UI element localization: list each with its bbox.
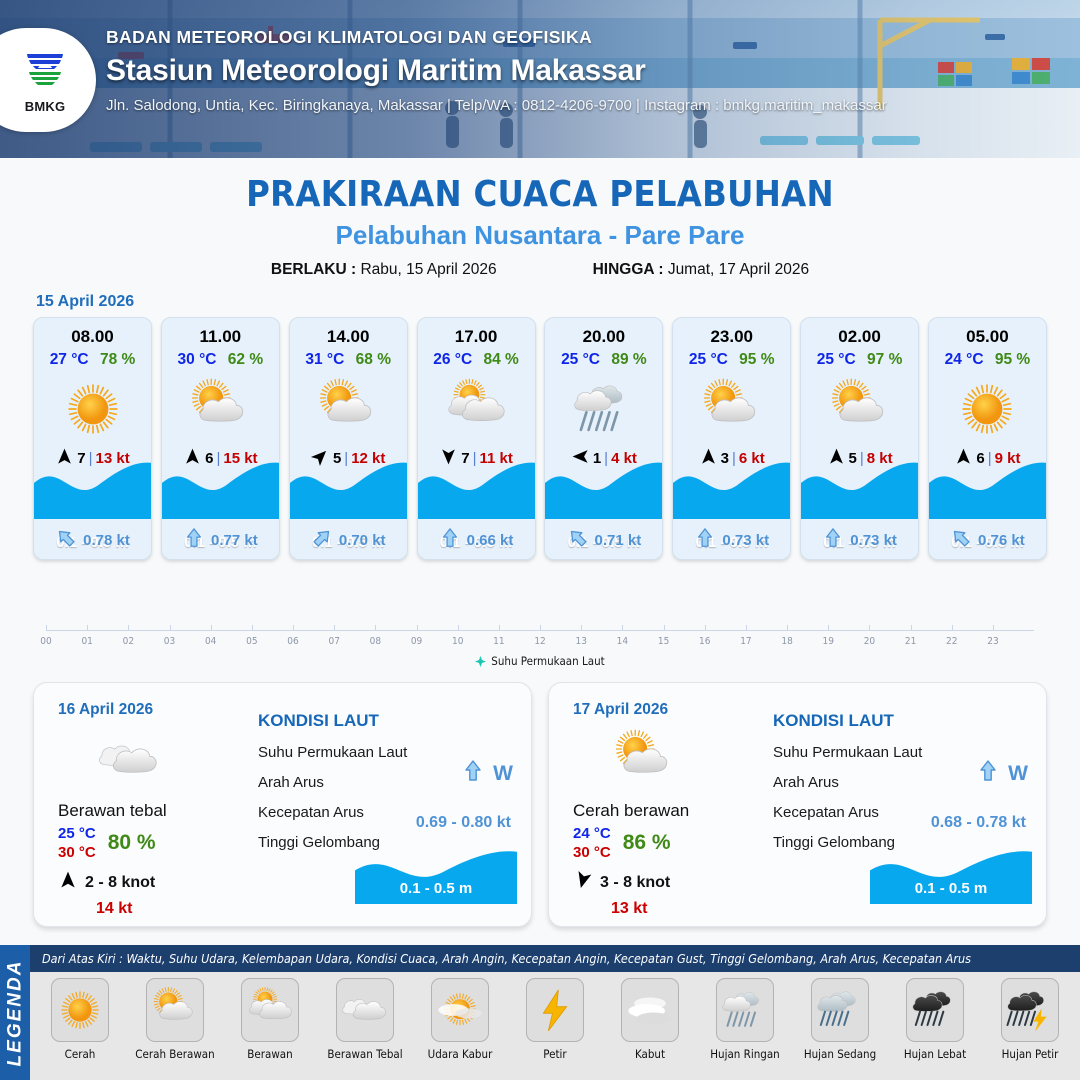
weather-cerah-berawan-icon xyxy=(699,372,765,446)
daily-wave-graphic: 0.1 - 0.5 m xyxy=(870,846,1032,904)
daily-wind: 3 - 8 knot xyxy=(573,870,773,895)
legend-item-label: Berawan Tebal xyxy=(327,1047,402,1061)
weather-cerah-icon xyxy=(954,372,1020,446)
card-temperature: 25 °C xyxy=(817,351,856,368)
card-current-speed: 0.78 kt xyxy=(83,532,130,549)
daily-temps: 25 °C 30 °C 80 % xyxy=(58,825,258,861)
card-humidity: 95 % xyxy=(995,351,1030,368)
chart-x-axis xyxy=(46,630,1034,631)
legend-item-label: Hujan Lebat xyxy=(904,1047,966,1061)
daily-forecast-panels: 16 April 2026 Berawan tebal 25 °C 30 °C … xyxy=(0,670,1080,927)
legend-item-label: Kabut xyxy=(635,1047,665,1061)
hourly-card: 02.00 25 °C 97 % 5 | 8 kt 0.1 - 0.5 m xyxy=(800,317,919,560)
legend-item: Udara Kabur xyxy=(418,978,502,1061)
daily-temp-max: 30 °C xyxy=(573,844,611,861)
chart-tick-label: 15 xyxy=(656,636,672,647)
current-direction-arrow-icon xyxy=(55,527,77,553)
daily-current-speed: 0.68 - 0.78 kt xyxy=(931,814,1026,832)
daily-panel: 16 April 2026 Berawan tebal 25 °C 30 °C … xyxy=(33,682,532,927)
card-humidity: 62 % xyxy=(228,351,263,368)
chart-tick-label: 14 xyxy=(614,636,630,647)
card-current-speed: 0.70 kt xyxy=(339,532,386,549)
card-temp-humidity: 25 °C 89 % xyxy=(561,351,647,369)
daily-wave-graphic: 0.1 - 0.5 m xyxy=(355,846,517,904)
legend-item: Berawan Tebal xyxy=(323,978,407,1061)
daily-humidity: 80 % xyxy=(108,831,156,855)
legend-section: LEGENDA Dari Atas Kiri : Waktu, Suhu Uda… xyxy=(0,945,1080,1080)
current-direction-arrow-icon xyxy=(461,759,485,788)
weather-berawan-icon xyxy=(443,372,509,446)
legend-item: Hujan Ringan xyxy=(703,978,787,1061)
current-direction-arrow-icon xyxy=(976,759,1000,788)
legend-item-label: Hujan Petir xyxy=(1002,1047,1059,1061)
card-current-speed: 0.77 kt xyxy=(211,532,258,549)
weather-cerah-berawan-icon xyxy=(827,372,893,446)
valid-from-value: Rabu, 15 April 2026 xyxy=(360,261,496,278)
chart-tick-label: 01 xyxy=(79,636,95,647)
card-current: 0.77 kt xyxy=(162,527,279,553)
card-current: 0.66 kt xyxy=(418,527,535,553)
card-temperature: 25 °C xyxy=(689,351,728,368)
card-temperature: 24 °C xyxy=(945,351,984,368)
legend-item: Hujan Sedang xyxy=(798,978,882,1061)
current-direction-arrow-icon xyxy=(439,527,461,553)
card-time: 02.00 xyxy=(838,327,881,347)
current-direction-arrow-icon xyxy=(183,527,205,553)
daily-gust: 13 kt xyxy=(611,900,773,918)
chart-tick-label: 22 xyxy=(944,636,960,647)
header-text-block: BADAN METEOROLOGI KLIMATOLOGI DAN GEOFIS… xyxy=(106,27,1066,114)
valid-to-value: Jumat, 17 April 2026 xyxy=(668,261,809,278)
chart-tick-label: 10 xyxy=(450,636,466,647)
daily-humidity: 86 % xyxy=(623,831,671,855)
card-wave-graphic xyxy=(673,457,790,519)
card-time: 08.00 xyxy=(71,327,114,347)
chart-tick-label: 06 xyxy=(285,636,301,647)
card-wave-graphic xyxy=(290,457,407,519)
legend-item: Berawan xyxy=(228,978,312,1061)
legend-item-label: Udara Kabur xyxy=(428,1047,493,1061)
card-current-speed: 0.66 kt xyxy=(467,532,514,549)
weather-hujan-ringan-icon xyxy=(571,372,637,446)
chart-tick-label: 12 xyxy=(532,636,548,647)
daily-wave-height: 0.1 - 0.5 m xyxy=(355,880,517,897)
weather-cerah-berawan-icon xyxy=(187,372,253,446)
chart-legend: Suhu Permukaan Laut xyxy=(46,654,1034,668)
chart-tick-label: 16 xyxy=(697,636,713,647)
hourly-card: 05.00 24 °C 95 % 6 | 9 kt 0.1 - 0.5 m xyxy=(928,317,1047,560)
hourly-card: 14.00 31 °C 68 % 5 | 12 kt 0.1 - 0.5 m xyxy=(289,317,408,560)
legend-hujan-petir-icon xyxy=(1001,978,1059,1042)
card-wave-graphic xyxy=(162,457,279,519)
current-direction-arrow-icon xyxy=(822,527,844,553)
card-current: 0.73 kt xyxy=(801,527,918,553)
chart-tick-label: 21 xyxy=(903,636,919,647)
daily-current-direction-label: W xyxy=(1008,762,1028,786)
sea-condition-title: KONDISI LAUT xyxy=(258,711,515,731)
card-temp-humidity: 25 °C 97 % xyxy=(817,351,903,369)
daily-date: 16 April 2026 xyxy=(58,701,258,719)
hourly-card: 17.00 26 °C 84 % 7 | 11 kt 0.1 - xyxy=(417,317,536,560)
daily-panel-left: 17 April 2026 Cerah berawan 24 °C 30 °C … xyxy=(549,683,773,926)
daily-current-direction-label: W xyxy=(493,762,513,786)
sea-condition-title: KONDISI LAUT xyxy=(773,711,1030,731)
hourly-forecast-cards: 08.00 27 °C 78 % 7 | 13 kt 0.1 - 0.5 m xyxy=(0,317,1080,560)
card-current-speed: 0.76 kt xyxy=(978,532,1025,549)
chart-tick-label: 20 xyxy=(861,636,877,647)
daily-condition: Cerah berawan xyxy=(573,801,773,821)
daily-temps: 24 °C 30 °C 86 % xyxy=(573,825,773,861)
legend-item: Petir xyxy=(513,978,597,1061)
legend-items: Cerah Cerah Berawan xyxy=(30,972,1080,1080)
hourly-card: 11.00 30 °C 62 % 6 | 15 kt 0.1 - 0.5 m xyxy=(161,317,280,560)
legend-item: Hujan Petir xyxy=(988,978,1072,1061)
current-direction-arrow-icon xyxy=(567,527,589,553)
card-temperature: 27 °C xyxy=(50,351,89,368)
card-humidity: 78 % xyxy=(100,351,135,368)
card-current: 0.71 kt xyxy=(545,527,662,553)
weather-berawan-tebal-icon xyxy=(96,727,258,793)
sst-chart: 0001020304050607080910111213141516171819… xyxy=(46,608,1034,670)
chart-tick-label: 13 xyxy=(573,636,589,647)
chart-tick-label: 05 xyxy=(244,636,260,647)
card-wave-graphic xyxy=(801,457,918,519)
daily-wind: 2 - 8 knot xyxy=(58,870,258,895)
card-current-speed: 0.71 kt xyxy=(595,532,642,549)
daily-temp-max: 30 °C xyxy=(58,844,96,861)
card-wave-graphic xyxy=(34,457,151,519)
card-humidity: 95 % xyxy=(739,351,774,368)
daily-gust: 14 kt xyxy=(96,900,258,918)
legend-berawan-icon xyxy=(241,978,299,1042)
card-temperature: 30 °C xyxy=(178,351,217,368)
chart-tick-label: 03 xyxy=(162,636,178,647)
legend-petir-icon xyxy=(526,978,584,1042)
card-current-speed: 0.73 kt xyxy=(722,532,769,549)
page-header: BMKG BADAN METEOROLOGI KLIMATOLOGI DAN G… xyxy=(0,0,1080,158)
legend-item-label: Hujan Sedang xyxy=(804,1047,876,1061)
legend-berawan-tebal-icon xyxy=(336,978,394,1042)
legend-item-label: Petir xyxy=(543,1047,566,1061)
card-temp-humidity: 24 °C 95 % xyxy=(945,351,1031,369)
card-humidity: 84 % xyxy=(483,351,518,368)
chart-tick-label: 23 xyxy=(985,636,1001,647)
legend-hujan-lebat-icon xyxy=(906,978,964,1042)
daily-temp-min: 24 °C xyxy=(573,825,611,842)
legend-item-label: Berawan xyxy=(247,1047,292,1061)
valid-to-label: HINGGA : xyxy=(593,261,664,278)
hourly-day-label: 15 April 2026 xyxy=(36,293,1080,311)
card-time: 05.00 xyxy=(966,327,1009,347)
current-direction-arrow-icon xyxy=(694,527,716,553)
valid-from: BERLAKU : Rabu, 15 April 2026 xyxy=(271,261,497,279)
chart-tick-label: 18 xyxy=(779,636,795,647)
daily-wave-height: 0.1 - 0.5 m xyxy=(870,880,1032,897)
card-current: 0.70 kt xyxy=(290,527,407,553)
legend-item-label: Hujan Ringan xyxy=(710,1047,780,1061)
card-temperature: 25 °C xyxy=(561,351,600,368)
card-temp-humidity: 31 °C 68 % xyxy=(305,351,391,369)
current-direction-arrow-icon xyxy=(950,527,972,553)
legend-kabut-icon xyxy=(621,978,679,1042)
card-current: 0.78 kt xyxy=(34,527,151,553)
card-time: 11.00 xyxy=(200,327,242,347)
card-wave-graphic xyxy=(545,457,662,519)
valid-from-label: BERLAKU : xyxy=(271,261,356,278)
weather-cerah-berawan-icon xyxy=(315,372,381,446)
weather-cerah-icon xyxy=(60,372,126,446)
legend-sidebar: LEGENDA xyxy=(0,945,30,1080)
legend-udara-kabur-icon xyxy=(431,978,489,1042)
daily-temp-min: 25 °C xyxy=(58,825,96,842)
bmkg-logo-text: BMKG xyxy=(14,99,76,114)
daily-wind-range: 3 - 8 knot xyxy=(600,874,670,892)
card-time: 14.00 xyxy=(327,327,370,347)
card-temp-humidity: 26 °C 84 % xyxy=(433,351,519,369)
contact-info: Jln. Salodong, Untia, Kec. Biringkanaya,… xyxy=(106,97,1066,114)
daily-wind-range: 2 - 8 knot xyxy=(85,874,155,892)
legend-item: Kabut xyxy=(608,978,692,1061)
legend-item: Cerah xyxy=(38,978,122,1061)
current-direction-arrow-icon xyxy=(311,527,333,553)
card-humidity: 68 % xyxy=(356,351,391,368)
valid-to: HINGGA : Jumat, 17 April 2026 xyxy=(593,261,810,279)
daily-panel-right: KONDISI LAUT Suhu Permukaan Laut Arah Ar… xyxy=(258,683,531,926)
chart-tick-label: 19 xyxy=(820,636,836,647)
agency-name: BADAN METEOROLOGI KLIMATOLOGI DAN GEOFIS… xyxy=(106,27,1066,48)
legend-hujan-sedang-icon xyxy=(811,978,869,1042)
legend-sidebar-label: LEGENDA xyxy=(4,959,26,1066)
card-temp-humidity: 25 °C 95 % xyxy=(689,351,775,369)
bmkg-emblem-icon xyxy=(21,47,69,93)
daily-panel-left: 16 April 2026 Berawan tebal 25 °C 30 °C … xyxy=(34,683,258,926)
legend-item-label: Cerah Berawan xyxy=(135,1047,214,1061)
daily-date: 17 April 2026 xyxy=(573,701,773,719)
chart-legend-label: Suhu Permukaan Laut xyxy=(491,654,604,668)
daily-panel: 17 April 2026 Cerah berawan 24 °C 30 °C … xyxy=(548,682,1047,927)
chart-tick-label: 00 xyxy=(38,636,54,647)
hourly-card: 20.00 25 °C 89 % 1 | 4 kt 0.1 - xyxy=(544,317,663,560)
chart-tick-label: 04 xyxy=(203,636,219,647)
card-humidity: 89 % xyxy=(611,351,646,368)
legend-body: Dari Atas Kiri : Waktu, Suhu Udara, Kele… xyxy=(30,945,1080,1080)
card-temp-humidity: 30 °C 62 % xyxy=(178,351,264,369)
card-current: 0.73 kt xyxy=(673,527,790,553)
daily-condition: Berawan tebal xyxy=(58,801,258,821)
card-time: 20.00 xyxy=(583,327,626,347)
chart-tick-label: 09 xyxy=(409,636,425,647)
legend-item: Hujan Lebat xyxy=(893,978,977,1061)
legend-note: Dari Atas Kiri : Waktu, Suhu Udara, Kele… xyxy=(30,945,1080,972)
card-wave-graphic xyxy=(929,457,1046,519)
validity-dates: BERLAKU : Rabu, 15 April 2026 HINGGA : J… xyxy=(0,261,1080,279)
daily-current-speed: 0.69 - 0.80 kt xyxy=(416,814,511,832)
card-time: 17.00 xyxy=(455,327,498,347)
chart-tick-label: 17 xyxy=(738,636,754,647)
card-temperature: 31 °C xyxy=(305,351,344,368)
chart-tick-label: 02 xyxy=(120,636,136,647)
page-subtitle: Pelabuhan Nusantara - Pare Pare xyxy=(0,220,1080,251)
station-name: Stasiun Meteorologi Maritim Makassar xyxy=(106,54,1066,88)
daily-current-direction: W xyxy=(461,759,513,788)
legend-item: Cerah Berawan xyxy=(133,978,217,1061)
card-temp-humidity: 27 °C 78 % xyxy=(50,351,136,369)
legend-cerah-icon xyxy=(51,978,109,1042)
legend-cerah-berawan-icon xyxy=(146,978,204,1042)
card-humidity: 97 % xyxy=(867,351,902,368)
chart-tick-label: 11 xyxy=(491,636,507,647)
wind-direction-arrow-icon xyxy=(573,870,593,895)
chart-tick-label: 08 xyxy=(367,636,383,647)
card-wave-graphic xyxy=(418,457,535,519)
weather-cerah-berawan-icon xyxy=(611,727,773,793)
chart-tick-label: 07 xyxy=(326,636,342,647)
wind-direction-arrow-icon xyxy=(58,870,78,895)
page-title: PRAKIRAAN CUACA PELABUHAN xyxy=(0,174,1080,215)
card-temperature: 26 °C xyxy=(433,351,472,368)
daily-panel-right: KONDISI LAUT Suhu Permukaan Laut Arah Ar… xyxy=(773,683,1046,926)
daily-current-direction: W xyxy=(976,759,1028,788)
title-block: PRAKIRAAN CUACA PELABUHAN Pelabuhan Nusa… xyxy=(0,174,1080,279)
legend-hujan-ringan-icon xyxy=(716,978,774,1042)
legend-item-label: Cerah xyxy=(65,1047,96,1061)
hourly-card: 23.00 25 °C 95 % 3 | 6 kt 0.1 - 0.5 m xyxy=(672,317,791,560)
sst-legend-marker-icon xyxy=(475,656,486,667)
hourly-card: 08.00 27 °C 78 % 7 | 13 kt 0.1 - 0.5 m xyxy=(33,317,152,560)
card-time: 23.00 xyxy=(710,327,753,347)
card-current-speed: 0.73 kt xyxy=(850,532,897,549)
card-current: 0.76 kt xyxy=(929,527,1046,553)
